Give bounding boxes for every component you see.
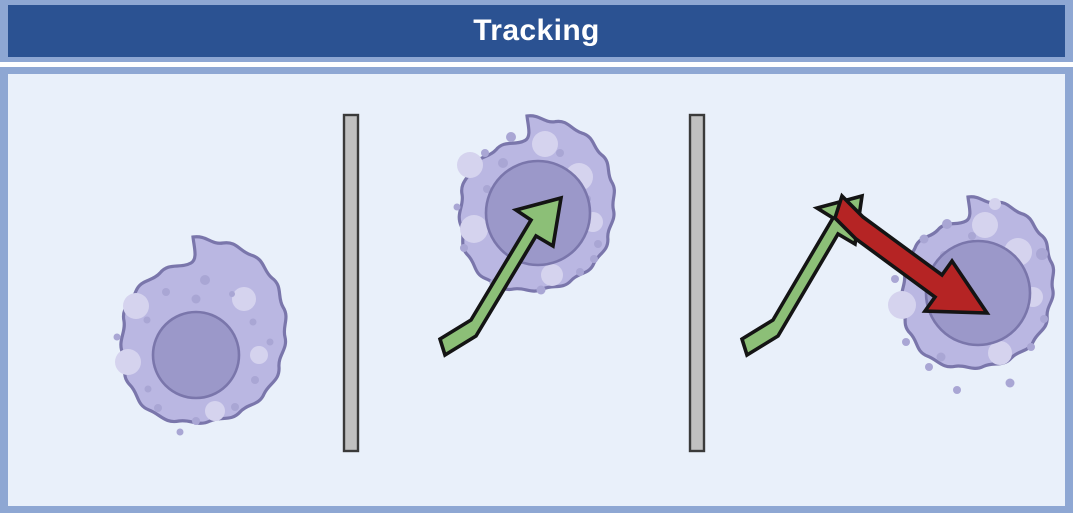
cell-t0-nucleus	[153, 312, 239, 398]
tracking-diagram	[8, 74, 1065, 506]
divider-bar-2	[690, 115, 704, 451]
content-frame: t = 0 t = 1 t = 2	[0, 67, 1073, 513]
cell-t0	[114, 237, 286, 436]
figure-stage	[8, 74, 1065, 506]
title-bar: Tracking	[8, 5, 1065, 57]
slide-canvas: Tracking	[0, 0, 1073, 513]
content-panel: t = 0 t = 1 t = 2	[8, 74, 1065, 506]
page-title: Tracking	[473, 14, 600, 48]
title-frame: Tracking	[0, 0, 1073, 62]
divider-bar-1	[344, 115, 358, 451]
